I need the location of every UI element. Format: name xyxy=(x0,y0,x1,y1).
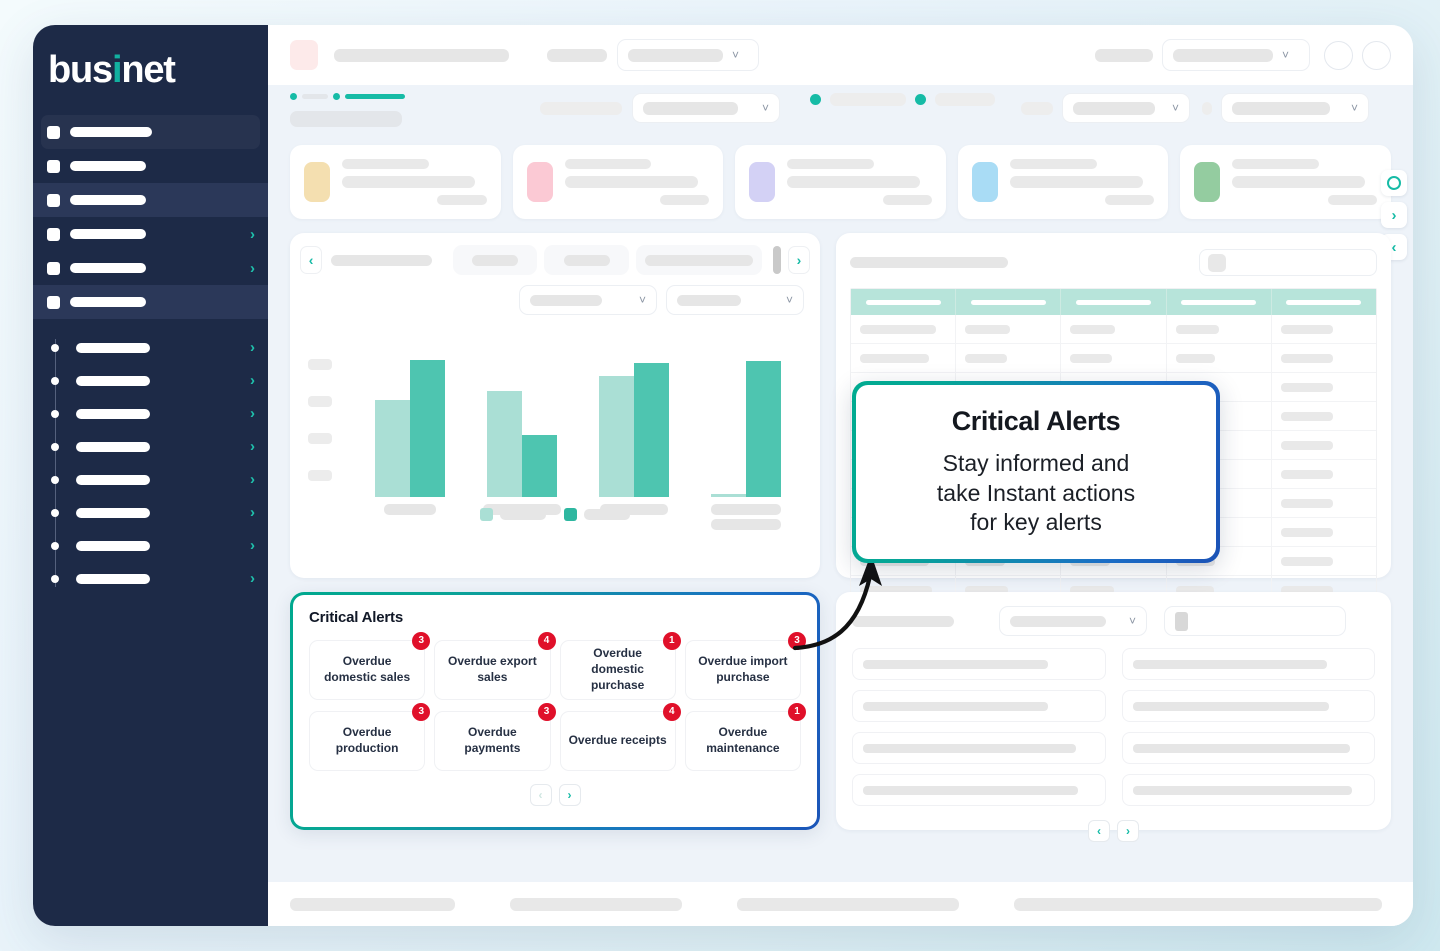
table-header-row xyxy=(836,233,1391,276)
alert-card-overdue-payments[interactable]: Overdue payments 3 xyxy=(434,711,550,771)
page-title-skeleton xyxy=(334,49,509,62)
logo-accent-letter: i xyxy=(112,49,121,91)
list-item[interactable] xyxy=(1122,732,1376,764)
top-bar: ˅ ˅ xyxy=(268,25,1413,85)
nav-square-icon xyxy=(47,228,60,241)
table-column-header[interactable] xyxy=(1272,289,1376,315)
refresh-ring-icon xyxy=(1387,176,1401,190)
list-prev-page-button[interactable]: ‹ xyxy=(1088,820,1110,842)
chart-plot-area xyxy=(354,323,802,497)
list-panel-grid xyxy=(836,636,1391,806)
chart-legend xyxy=(302,508,808,521)
breadcrumb-active-step xyxy=(345,94,405,99)
status-badge: 3 xyxy=(412,632,430,650)
list-item[interactable] xyxy=(1122,774,1376,806)
status-badge: 1 xyxy=(788,703,806,721)
stat-accent-bar xyxy=(527,162,553,202)
search-icon xyxy=(1208,254,1226,272)
chart-tab-label-skeleton xyxy=(331,255,432,266)
sidebar-item-label xyxy=(70,127,152,137)
breadcrumb-dot-icon xyxy=(290,93,297,100)
y-tick-label-skeleton xyxy=(308,396,332,407)
bullet-icon xyxy=(51,542,59,550)
panels-row-bottom: Critical Alerts Overdue domestic sales 3… xyxy=(268,578,1413,830)
legend-swatch-series-b xyxy=(564,508,577,521)
table-cell xyxy=(1167,344,1272,372)
sidebar-subitem-8[interactable]: › xyxy=(33,562,268,595)
alert-card-label: Overdue export sales xyxy=(441,654,543,686)
sidebar-item-6[interactable] xyxy=(33,285,268,319)
callout-title: Critical Alerts xyxy=(952,406,1121,437)
bar-series-a[interactable] xyxy=(487,391,522,497)
alerts-next-page-button[interactable]: › xyxy=(559,784,581,806)
stat-card[interactable] xyxy=(958,145,1169,219)
bar-series-a[interactable] xyxy=(375,400,410,497)
y-tick-label-skeleton xyxy=(308,359,332,370)
alert-card-overdue-domestic-purchase[interactable]: Overdue domestic purchase 1 xyxy=(560,640,676,700)
sidebar-subitem-label xyxy=(76,343,150,353)
bullet-icon xyxy=(51,344,59,352)
alert-card-overdue-export-sales[interactable]: Overdue export sales 4 xyxy=(434,640,550,700)
sidebar-item-3[interactable] xyxy=(33,183,268,217)
chart-tabs-scroll-thumb[interactable] xyxy=(773,246,780,274)
y-tick-label-skeleton xyxy=(308,470,332,481)
stat-card-content xyxy=(787,159,932,205)
chevron-down-icon: ˅ xyxy=(786,294,793,306)
dropdown-value-skeleton xyxy=(628,49,723,62)
sidebar-subitem-2[interactable]: › xyxy=(33,364,268,397)
stat-accent-bar xyxy=(304,162,330,202)
stat-card-content xyxy=(565,159,710,205)
sidebar-subitem-label xyxy=(76,574,150,584)
sidebar-subitem-1[interactable]: › xyxy=(33,331,268,364)
status-badge: 1 xyxy=(663,632,681,650)
stat-accent-bar xyxy=(972,162,998,202)
chart-y-axis xyxy=(308,359,332,481)
alert-card-label: Overdue payments xyxy=(441,725,543,757)
stat-accent-bar xyxy=(749,162,775,202)
breadcrumb-dot-icon xyxy=(333,93,340,100)
topbar-dropdown-2[interactable]: ˅ xyxy=(1162,39,1310,71)
bullet-icon xyxy=(51,377,59,385)
bar-series-a[interactable] xyxy=(599,376,634,497)
chevron-right-icon: › xyxy=(250,373,255,388)
stat-card[interactable] xyxy=(290,145,501,219)
callout-line-2: take Instant actions xyxy=(937,479,1135,509)
legend-swatch-series-a xyxy=(480,508,493,521)
chart-tab[interactable] xyxy=(544,245,628,275)
sidebar-item-label xyxy=(70,195,146,205)
chevron-right-icon: › xyxy=(250,406,255,421)
breadcrumb-step-skeleton xyxy=(302,94,328,99)
status-badge: 4 xyxy=(663,703,681,721)
crumb-dropdown-3[interactable]: ˅ xyxy=(1221,93,1369,123)
chevron-right-icon: › xyxy=(250,571,255,586)
topbar-dropdown[interactable]: ˅ xyxy=(617,39,759,71)
stat-card-content xyxy=(1232,159,1377,205)
chevron-down-icon: ˅ xyxy=(732,49,739,61)
alert-card-overdue-receipts[interactable]: Overdue receipts 4 xyxy=(560,711,676,771)
bullet-icon xyxy=(51,410,59,418)
bar-group xyxy=(711,361,781,497)
table-cell xyxy=(956,344,1061,372)
crumb-dropdown-2[interactable]: ˅ xyxy=(1062,93,1190,123)
refresh-button[interactable] xyxy=(1381,170,1407,196)
chevron-right-icon: › xyxy=(250,227,255,242)
alert-card-label: Overdue receipts xyxy=(569,733,667,749)
notification-avatar[interactable] xyxy=(1324,41,1353,70)
sidebar-item-label xyxy=(70,297,146,307)
dropdown-value-skeleton xyxy=(1073,102,1155,115)
list-next-page-button[interactable]: › xyxy=(1117,820,1139,842)
chart-tab[interactable] xyxy=(453,245,537,275)
sidebar-subitem-3[interactable]: › xyxy=(33,397,268,430)
stat-card-row xyxy=(268,145,1413,219)
bar-group xyxy=(599,363,669,497)
alert-card-overdue-production[interactable]: Overdue production 3 xyxy=(309,711,425,771)
bullet-icon xyxy=(51,575,59,583)
chart-tab[interactable] xyxy=(636,245,763,275)
legend-label-series-b xyxy=(584,509,630,520)
chart-panel: ‹ › ˅ ˅ xyxy=(290,233,820,578)
status-badge: 3 xyxy=(412,703,430,721)
critical-alerts-title: Critical Alerts xyxy=(309,609,801,626)
critical-alerts-highlight-border: Critical Alerts Overdue domestic sales 3… xyxy=(290,592,820,830)
toggle-label-skeleton xyxy=(935,93,995,106)
list-item[interactable] xyxy=(1122,648,1376,680)
sidebar-subitem-label xyxy=(76,475,150,485)
stat-card-content xyxy=(1010,159,1155,205)
list-panel-pagination: ‹ › xyxy=(836,820,1391,842)
sidebar-subitem-5[interactable]: › xyxy=(33,463,268,496)
table-cell xyxy=(956,315,1061,343)
dropdown-value-skeleton xyxy=(1232,102,1330,115)
chevron-down-icon: ˅ xyxy=(1282,49,1289,61)
logo[interactable]: businet xyxy=(33,25,268,111)
table-cell xyxy=(1272,315,1376,343)
toggle-label-skeleton xyxy=(830,93,906,106)
alert-card-label: Overdue import purchase xyxy=(692,654,794,686)
status-badge: 3 xyxy=(538,703,556,721)
sidebar-item-label xyxy=(70,161,146,171)
filter-label-skeleton xyxy=(540,102,622,115)
main-content: ˅ ˅ xyxy=(268,25,1413,926)
chevron-down-icon: ˅ xyxy=(1129,615,1136,627)
table-cell xyxy=(1061,344,1166,372)
sidebar-item-label xyxy=(70,263,146,273)
table-column-header[interactable] xyxy=(956,289,1061,315)
toggle-dot-icon[interactable] xyxy=(915,94,926,105)
bar-series-b[interactable] xyxy=(746,361,781,497)
chevron-right-icon: › xyxy=(250,261,255,276)
critical-alerts-callout: Critical Alerts Stay informed and take I… xyxy=(852,381,1220,563)
sidebar-subitem-label xyxy=(76,409,150,419)
list-item[interactable] xyxy=(852,648,1106,680)
chart-filter-row: ˅ ˅ xyxy=(290,275,820,315)
table-column-header[interactable] xyxy=(1061,289,1166,315)
table-cell xyxy=(1272,431,1376,459)
nav-square-icon xyxy=(47,160,60,173)
table-row[interactable] xyxy=(851,344,1376,373)
topbar-right-label-skeleton xyxy=(1095,49,1153,62)
bar-series-a[interactable] xyxy=(711,494,746,497)
callout-body: Critical Alerts Stay informed and take I… xyxy=(856,385,1216,559)
sidebar-subitem-label xyxy=(76,508,150,518)
bar-series-b[interactable] xyxy=(410,360,445,497)
user-avatar[interactable] xyxy=(1362,41,1391,70)
table-cell xyxy=(1272,373,1376,401)
alert-card-label: Overdue domestic sales xyxy=(316,654,418,686)
table-head xyxy=(851,289,1376,315)
toolbar-label-skeleton xyxy=(547,49,607,62)
y-tick-label-skeleton xyxy=(308,433,332,444)
alert-card-label: Overdue production xyxy=(316,725,418,757)
sidebar-subitem-label xyxy=(76,442,150,452)
panels-row-top: ‹ › ˅ ˅ xyxy=(268,219,1413,578)
chevron-down-icon: ˅ xyxy=(762,102,769,114)
filter-label-skeleton xyxy=(1202,102,1212,115)
table-column-header[interactable] xyxy=(1167,289,1272,315)
chevron-down-icon: ˅ xyxy=(1172,102,1179,114)
callout-line-3: for key alerts xyxy=(937,508,1135,538)
chart-tabs-prev-button[interactable]: ‹ xyxy=(300,246,322,274)
logo-text: businet xyxy=(48,51,268,89)
list-item[interactable] xyxy=(852,774,1106,806)
table-cell xyxy=(1272,489,1376,517)
sidebar-subitem-label xyxy=(76,376,150,386)
table-search-input[interactable] xyxy=(1199,249,1377,276)
bullet-icon xyxy=(51,509,59,517)
status-item-skeleton xyxy=(290,898,455,911)
alert-card-overdue-maintenance[interactable]: Overdue maintenance 1 xyxy=(685,711,801,771)
sidebar-subitem-7[interactable]: › xyxy=(33,529,268,562)
sidebar-nav-primary: › › xyxy=(33,115,268,319)
sidebar-subitem-label xyxy=(76,541,150,551)
alert-card-overdue-domestic-sales[interactable]: Overdue domestic sales 3 xyxy=(309,640,425,700)
chart-tabs-next-button[interactable]: › xyxy=(788,246,810,274)
bar-chart xyxy=(302,323,808,523)
rail-next-button[interactable]: › xyxy=(1381,202,1407,228)
chevron-down-icon: ˅ xyxy=(1351,102,1358,114)
sidebar-subitem-6[interactable]: › xyxy=(33,496,268,529)
chevron-down-icon: ˅ xyxy=(639,294,646,306)
chevron-right-icon: › xyxy=(250,538,255,553)
chart-filter-1[interactable]: ˅ xyxy=(519,285,657,315)
bullet-icon xyxy=(51,476,59,484)
table-column-header[interactable] xyxy=(851,289,956,315)
list-panel-search-input[interactable] xyxy=(1164,606,1346,636)
breadcrumb-bar: ˅ ˅ ˅ xyxy=(268,85,1413,143)
stat-card[interactable] xyxy=(1180,145,1391,219)
table-row[interactable] xyxy=(851,315,1376,344)
alert-card-overdue-import-purchase[interactable]: Overdue import purchase 3 xyxy=(685,640,801,700)
critical-alerts-panel: Critical Alerts Overdue domestic sales 3… xyxy=(290,592,820,830)
chevron-right-icon: › xyxy=(250,340,255,355)
table-title-skeleton xyxy=(850,257,1008,268)
sidebar-item-4[interactable]: › xyxy=(33,217,268,251)
callout-line-1: Stay informed and xyxy=(937,449,1135,479)
bar-group xyxy=(487,391,557,497)
table-cell xyxy=(1272,344,1376,372)
alert-card-label: Overdue domestic purchase xyxy=(567,646,669,693)
table-cell xyxy=(1167,315,1272,343)
crumb-dropdown-1[interactable]: ˅ xyxy=(632,93,780,123)
list-item[interactable] xyxy=(1122,690,1376,722)
list-panel: ˅ ‹ › xyxy=(836,592,1391,830)
status-item-skeleton xyxy=(1014,898,1382,911)
sidebar-nav-secondary: › › › › › xyxy=(33,331,268,595)
status-badge: 3 xyxy=(788,632,806,650)
table-cell xyxy=(1272,402,1376,430)
dropdown-value-skeleton xyxy=(1173,49,1273,62)
bar-series-b[interactable] xyxy=(522,435,557,497)
critical-alerts-pagination: ‹ › xyxy=(309,784,801,806)
breadcrumb[interactable] xyxy=(290,93,450,100)
table-cell xyxy=(1272,518,1376,546)
bar-series-b[interactable] xyxy=(634,363,669,497)
section-title-skeleton xyxy=(290,111,402,127)
dropdown-value-skeleton xyxy=(643,102,738,115)
table-cell xyxy=(1061,315,1166,343)
sidebar: businet › › xyxy=(33,25,268,926)
stat-card[interactable] xyxy=(735,145,946,219)
bullet-icon xyxy=(51,443,59,451)
callout-description: Stay informed and take Instant actions f… xyxy=(937,449,1135,538)
critical-alerts-grid: Overdue domestic sales 3 Overdue export … xyxy=(309,640,801,771)
status-item-skeleton xyxy=(737,898,959,911)
alert-card-label: Overdue maintenance xyxy=(692,725,794,757)
chevron-right-icon: › xyxy=(250,472,255,487)
nav-square-icon xyxy=(47,262,60,275)
status-badge: 4 xyxy=(538,632,556,650)
sidebar-item-label xyxy=(70,229,146,239)
list-panel-title-skeleton xyxy=(852,616,954,627)
sidebar-item-2[interactable] xyxy=(33,149,268,183)
status-item-skeleton xyxy=(510,898,682,911)
chart-tab-strip: ‹ › xyxy=(290,233,820,275)
stat-card[interactable] xyxy=(513,145,724,219)
table-cell xyxy=(851,315,956,343)
table-cell xyxy=(1272,547,1376,575)
stat-accent-bar xyxy=(1194,162,1220,202)
stat-card-content xyxy=(342,159,487,205)
list-item[interactable] xyxy=(852,690,1106,722)
nav-square-icon xyxy=(47,126,60,139)
search-icon xyxy=(1175,612,1188,631)
list-panel-dropdown[interactable]: ˅ xyxy=(999,606,1147,636)
table-cell xyxy=(1272,460,1376,488)
chevron-right-icon: › xyxy=(250,505,255,520)
table-cell xyxy=(851,344,956,372)
nav-square-icon xyxy=(47,194,60,207)
app-icon[interactable] xyxy=(290,40,318,70)
bar-group xyxy=(375,360,445,497)
list-panel-header: ˅ xyxy=(836,592,1391,636)
nav-square-icon xyxy=(47,296,60,309)
toggle-dot-icon[interactable] xyxy=(810,94,821,105)
status-bar xyxy=(268,882,1413,926)
list-item[interactable] xyxy=(852,732,1106,764)
legend-label-series-a xyxy=(500,509,546,520)
sidebar-item-1[interactable] xyxy=(41,115,260,149)
chart-filter-2[interactable]: ˅ xyxy=(666,285,804,315)
critical-alerts-body: Critical Alerts Overdue domestic sales 3… xyxy=(293,595,817,827)
alerts-prev-page-button[interactable]: ‹ xyxy=(530,784,552,806)
chevron-right-icon: › xyxy=(250,439,255,454)
sidebar-subitem-4[interactable]: › xyxy=(33,430,268,463)
filter-label-skeleton xyxy=(1021,102,1053,115)
sidebar-item-5[interactable]: › xyxy=(33,251,268,285)
